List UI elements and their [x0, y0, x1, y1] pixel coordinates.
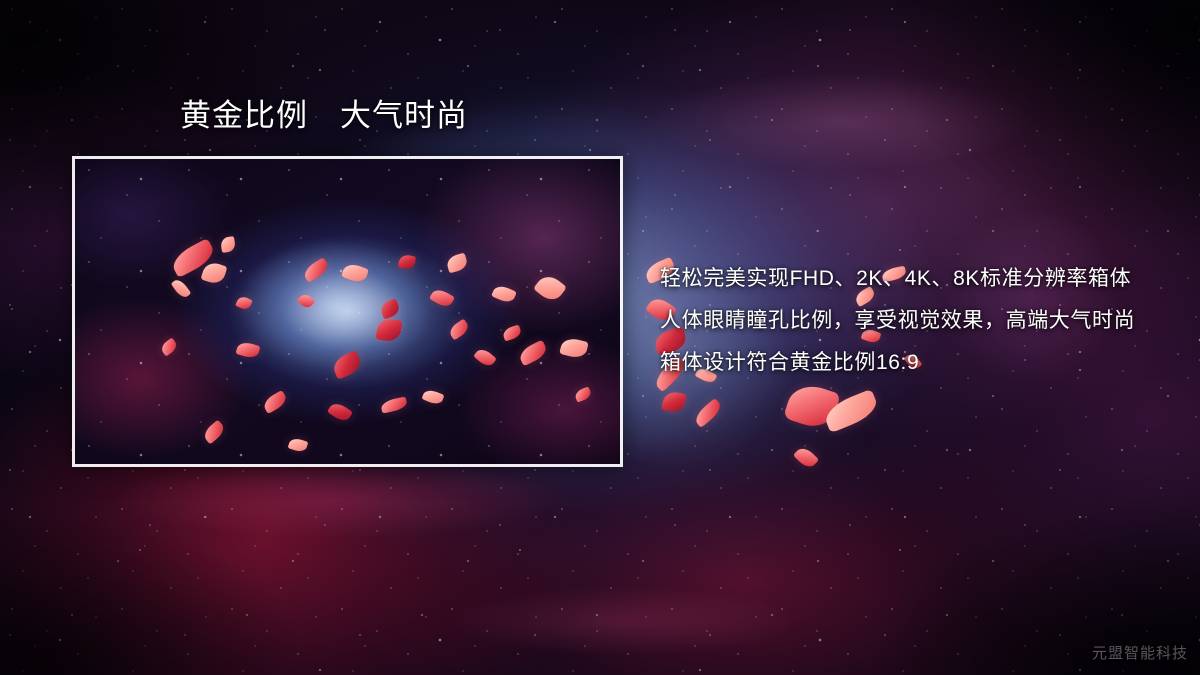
framed-image-content: [75, 159, 620, 464]
presentation-slide: 黄金比例 大气时尚 轻松完美实现FHD、2K、4K、8K标准分辨率箱体 人体眼睛…: [0, 0, 1200, 675]
body-line-2: 人体眼睛瞳孔比例，享受视觉效果，高端大气时尚: [660, 300, 1180, 342]
petal-icon: [821, 389, 881, 433]
slide-body-copy: 轻松完美实现FHD、2K、4K、8K标准分辨率箱体 人体眼睛瞳孔比例，享受视觉效…: [660, 258, 1180, 384]
watermark: 元盟智能科技: [1092, 642, 1188, 663]
slide-headline: 黄金比例 大气时尚: [180, 100, 468, 131]
framed-image: [72, 156, 623, 467]
body-line-3: 箱体设计符合黄金比例16:9: [660, 342, 1180, 384]
petal-icon: [692, 398, 724, 428]
petal-icon: [661, 390, 687, 414]
petal-icon: [793, 444, 819, 470]
petal-icon: [783, 380, 841, 433]
body-line-1: 轻松完美实现FHD、2K、4K、8K标准分辨率箱体: [660, 258, 1180, 300]
